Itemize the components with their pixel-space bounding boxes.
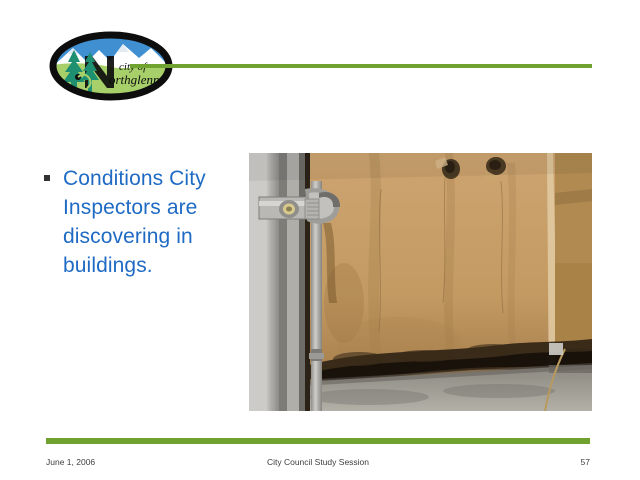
list-item: Conditions City Inspectors are discoveri…	[44, 164, 244, 280]
slide-body-text: Conditions City Inspectors are discoveri…	[44, 164, 244, 280]
page-number: 57	[581, 455, 590, 469]
footer-title: City Council Study Session	[46, 455, 590, 469]
footer-divider-bar	[46, 438, 590, 444]
bullet-text: Conditions City Inspectors are discoveri…	[63, 164, 244, 280]
building-interior-water-damage-photo	[249, 153, 592, 411]
presentation-slide: city of orthglenn Conditions City Inspec…	[0, 0, 640, 480]
slide-footer: June 1, 2006 City Council Study Session …	[46, 455, 590, 469]
header-divider-rule	[130, 64, 592, 68]
square-bullet-icon	[44, 175, 50, 181]
